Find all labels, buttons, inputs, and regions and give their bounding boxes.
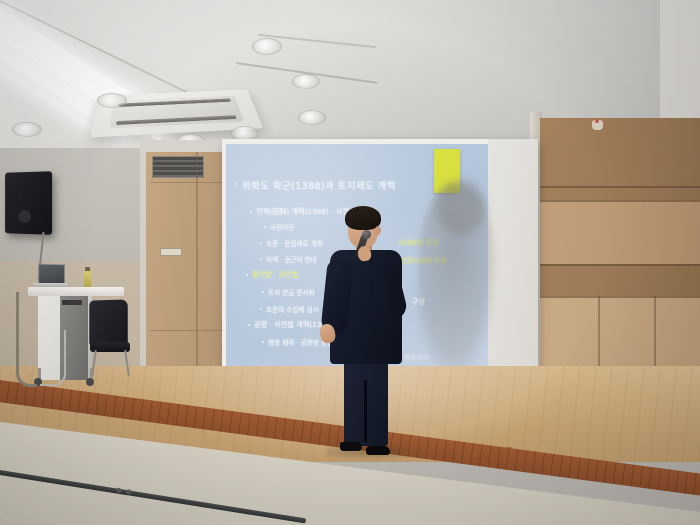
bullet-dot — [260, 242, 262, 244]
slide-bullet-7: 조준의 수입제 실시 — [266, 304, 319, 314]
presenter-shoe-left — [340, 442, 362, 451]
speaker-driver-icon — [18, 210, 31, 223]
right-wall-trim — [540, 296, 700, 298]
bullet-dot — [260, 308, 262, 310]
ac-inner-panel — [109, 96, 244, 129]
right-wall-light-band — [540, 200, 700, 264]
downlight-icon — [252, 38, 282, 55]
ac-vent-bottom — [116, 115, 237, 125]
bullet-dot — [246, 274, 248, 276]
downlight-icon — [12, 122, 42, 137]
presenter-leg-separation — [364, 380, 367, 442]
right-wall-trim — [540, 200, 700, 202]
microphone-head-icon — [362, 230, 371, 239]
presenter-ear — [375, 226, 381, 235]
slide-bullet-5: 활전법 · 과전법 — [252, 270, 299, 280]
wood-panel-seam — [150, 330, 230, 331]
lecture-hall-photo: 위화도 회군(1388)과 토지제도 개혁 전제(田制) 개혁(1388) - … — [0, 0, 700, 525]
bullet-dot — [262, 341, 264, 343]
bullet-dot — [260, 258, 262, 260]
downlight-icon — [97, 93, 127, 108]
slide-bullet-4: 이색 · 권근이 반대 — [266, 254, 317, 264]
presenter-shoe-right — [366, 446, 390, 455]
power-cable-loop — [16, 292, 37, 387]
presenter — [318, 198, 422, 458]
presenter-head-shadow — [436, 179, 486, 235]
av-cart-caster — [86, 378, 94, 386]
bullet-dot — [250, 211, 252, 213]
folding-chair-back[interactable] — [89, 299, 127, 346]
wall-sign-plate — [160, 248, 182, 256]
smoke-detector-led-icon — [595, 119, 599, 123]
wood-panel-seam — [150, 182, 230, 183]
av-cart-control-panel[interactable] — [62, 300, 82, 305]
slide-bullet-2: 사전이민 — [270, 222, 294, 232]
right-wall-trim — [540, 264, 700, 266]
secondary-cable — [40, 330, 66, 386]
downlight-icon — [298, 110, 326, 125]
slide-bullet-6: 토지 분급 문서화 — [268, 287, 315, 297]
left-wood-panel — [146, 152, 230, 400]
av-cart-top-shelf — [28, 287, 124, 296]
bullet-dot — [235, 183, 237, 185]
wall-speaker — [5, 171, 52, 235]
ac-vent-top — [118, 98, 231, 106]
downlight-icon — [292, 74, 320, 89]
slide-title: 위화도 회군(1388)과 토지제도 개혁 — [242, 178, 396, 192]
bullet-dot — [262, 291, 264, 293]
bullet-dot — [264, 226, 266, 228]
wood-panel-seam — [196, 152, 198, 400]
bullet-dot — [248, 324, 250, 326]
slide-bullet-3: 조준 · 윤립제로 개혁 — [266, 238, 323, 248]
right-wall-trim — [540, 186, 700, 188]
